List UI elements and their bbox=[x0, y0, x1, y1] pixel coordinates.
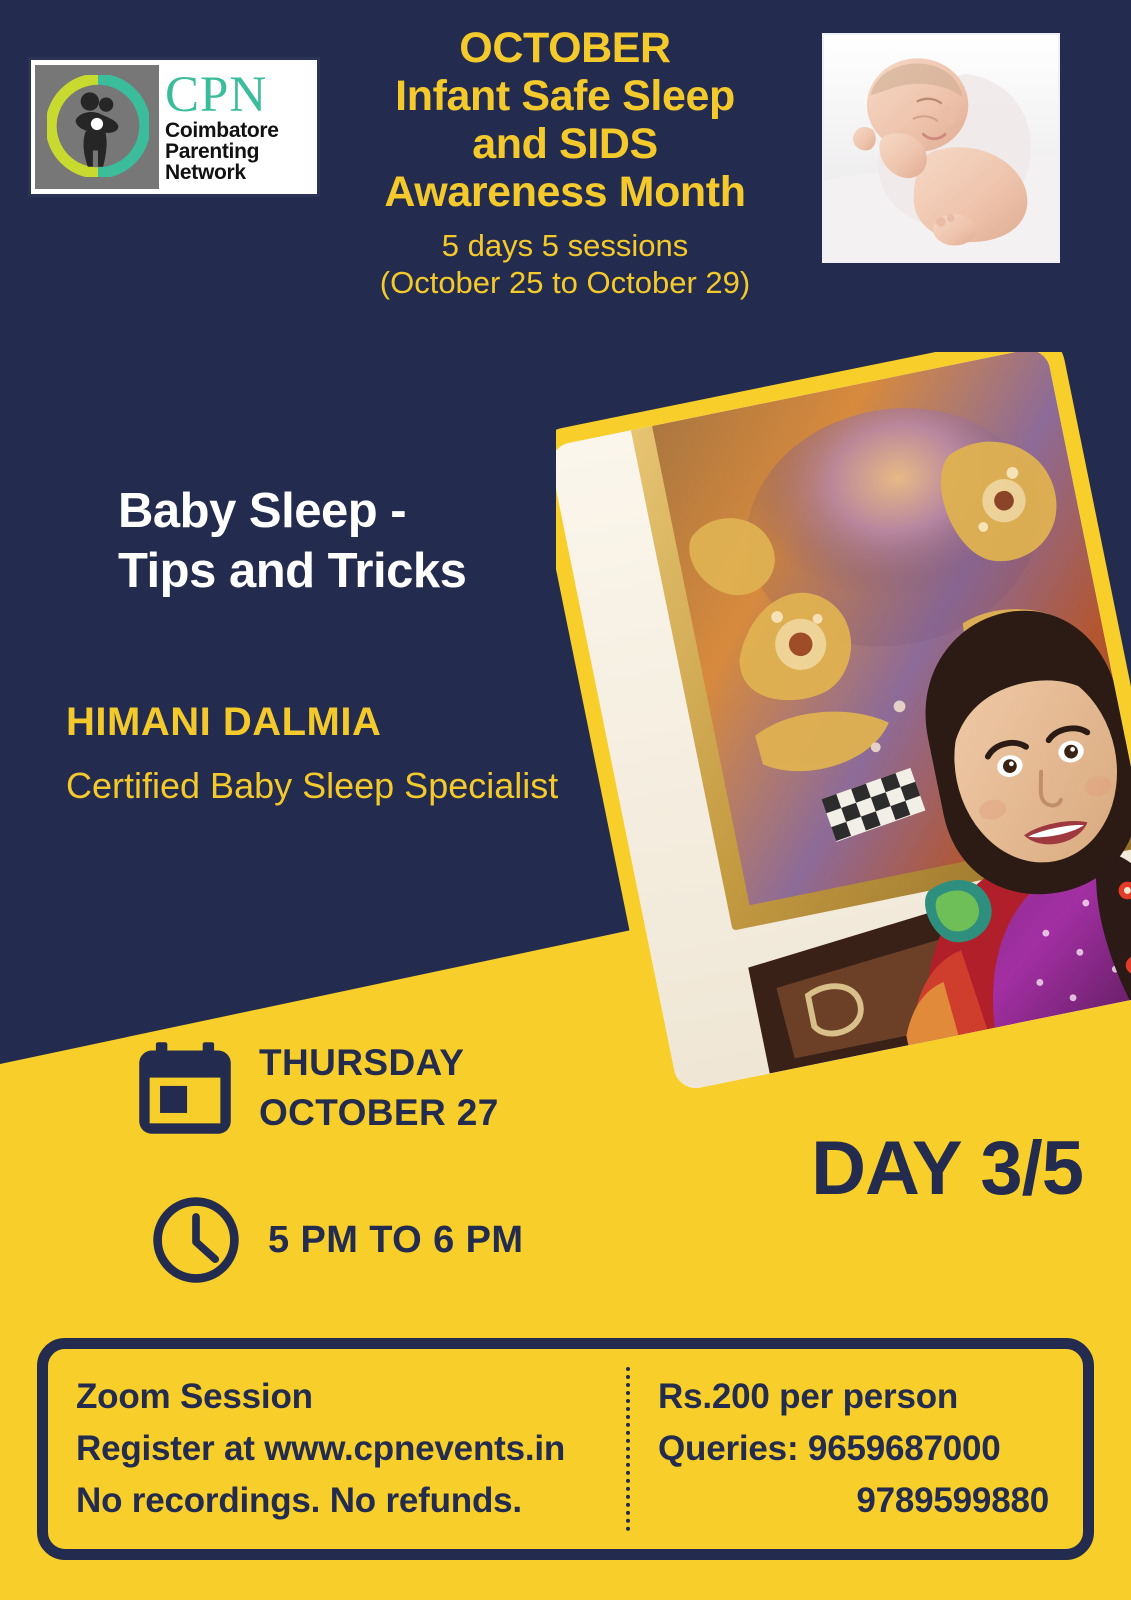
registration-left-column: Zoom Session Register at www.cpnevents.i… bbox=[48, 1349, 626, 1549]
sleeping-baby-illustration bbox=[824, 35, 1058, 261]
speaker-photo bbox=[556, 352, 1131, 1112]
speaker-photo-frame bbox=[529, 327, 1131, 1111]
poster-header: OCTOBER Infant Safe Sleep and SIDS Aware… bbox=[315, 24, 815, 302]
cpn-acronym: CPN bbox=[165, 71, 279, 119]
registration-info-box: Zoom Session Register at www.cpnevents.i… bbox=[37, 1338, 1094, 1560]
footer-left-line-1: Zoom Session bbox=[76, 1371, 626, 1423]
footer-left-line-3: No recordings. No refunds. bbox=[76, 1475, 626, 1527]
registration-right-column: Rs.200 per person Queries: 9659687000 97… bbox=[630, 1349, 1083, 1549]
speaker-name: HIMANI DALMIA bbox=[66, 700, 381, 745]
sleeping-baby-photo bbox=[822, 33, 1060, 263]
header-title-line-1: Infant Safe Sleep bbox=[315, 72, 815, 120]
footer-left-line-2[interactable]: Register at www.cpnevents.in bbox=[76, 1423, 626, 1475]
speaker-portrait-illustration bbox=[548, 346, 1131, 1092]
session-title-line-2: Tips and Tricks bbox=[118, 542, 638, 602]
date-day-name: THURSDAY bbox=[259, 1038, 499, 1088]
day-badge: DAY 3/5 bbox=[811, 1125, 1083, 1212]
clock-icon bbox=[148, 1192, 244, 1288]
calendar-icon bbox=[133, 1036, 237, 1140]
date-value: OCTOBER 27 bbox=[259, 1088, 499, 1138]
header-title-line-3: Awareness Month bbox=[315, 168, 815, 216]
session-title: Baby Sleep - Tips and Tricks bbox=[118, 482, 638, 602]
header-title-line-2: and SIDS bbox=[315, 120, 815, 168]
footer-right-line-1: Rs.200 per person bbox=[658, 1371, 1061, 1423]
event-poster: CPN Coimbatore Parenting Network OCTOBER… bbox=[0, 0, 1131, 1600]
footer-right-line-2: Queries: 9659687000 bbox=[658, 1423, 1061, 1475]
footer-right-line-3: 9789599880 bbox=[658, 1475, 1061, 1527]
time-value: 5 PM TO 6 PM bbox=[268, 1219, 523, 1262]
time-row: 5 PM TO 6 PM bbox=[148, 1192, 523, 1288]
header-month: OCTOBER bbox=[315, 24, 815, 72]
parent-child-ring-icon bbox=[47, 75, 149, 177]
cpn-logo-text: CPN Coimbatore Parenting Network bbox=[165, 71, 279, 182]
cpn-logo: CPN Coimbatore Parenting Network bbox=[28, 57, 320, 197]
session-title-line-1: Baby Sleep - bbox=[118, 482, 638, 542]
header-sessions-count: 5 days 5 sessions bbox=[315, 227, 815, 265]
cpn-line-2: Parenting bbox=[165, 141, 279, 162]
cpn-logo-mark bbox=[35, 65, 159, 189]
speaker-role: Certified Baby Sleep Specialist bbox=[66, 765, 558, 807]
cpn-line-3: Network bbox=[165, 162, 279, 183]
cpn-line-1: Coimbatore bbox=[165, 120, 279, 141]
date-text: THURSDAY OCTOBER 27 bbox=[259, 1038, 499, 1138]
date-row: THURSDAY OCTOBER 27 bbox=[133, 1036, 499, 1140]
header-date-range: (October 25 to October 29) bbox=[315, 264, 815, 302]
speaker-photo-image bbox=[548, 346, 1131, 1092]
